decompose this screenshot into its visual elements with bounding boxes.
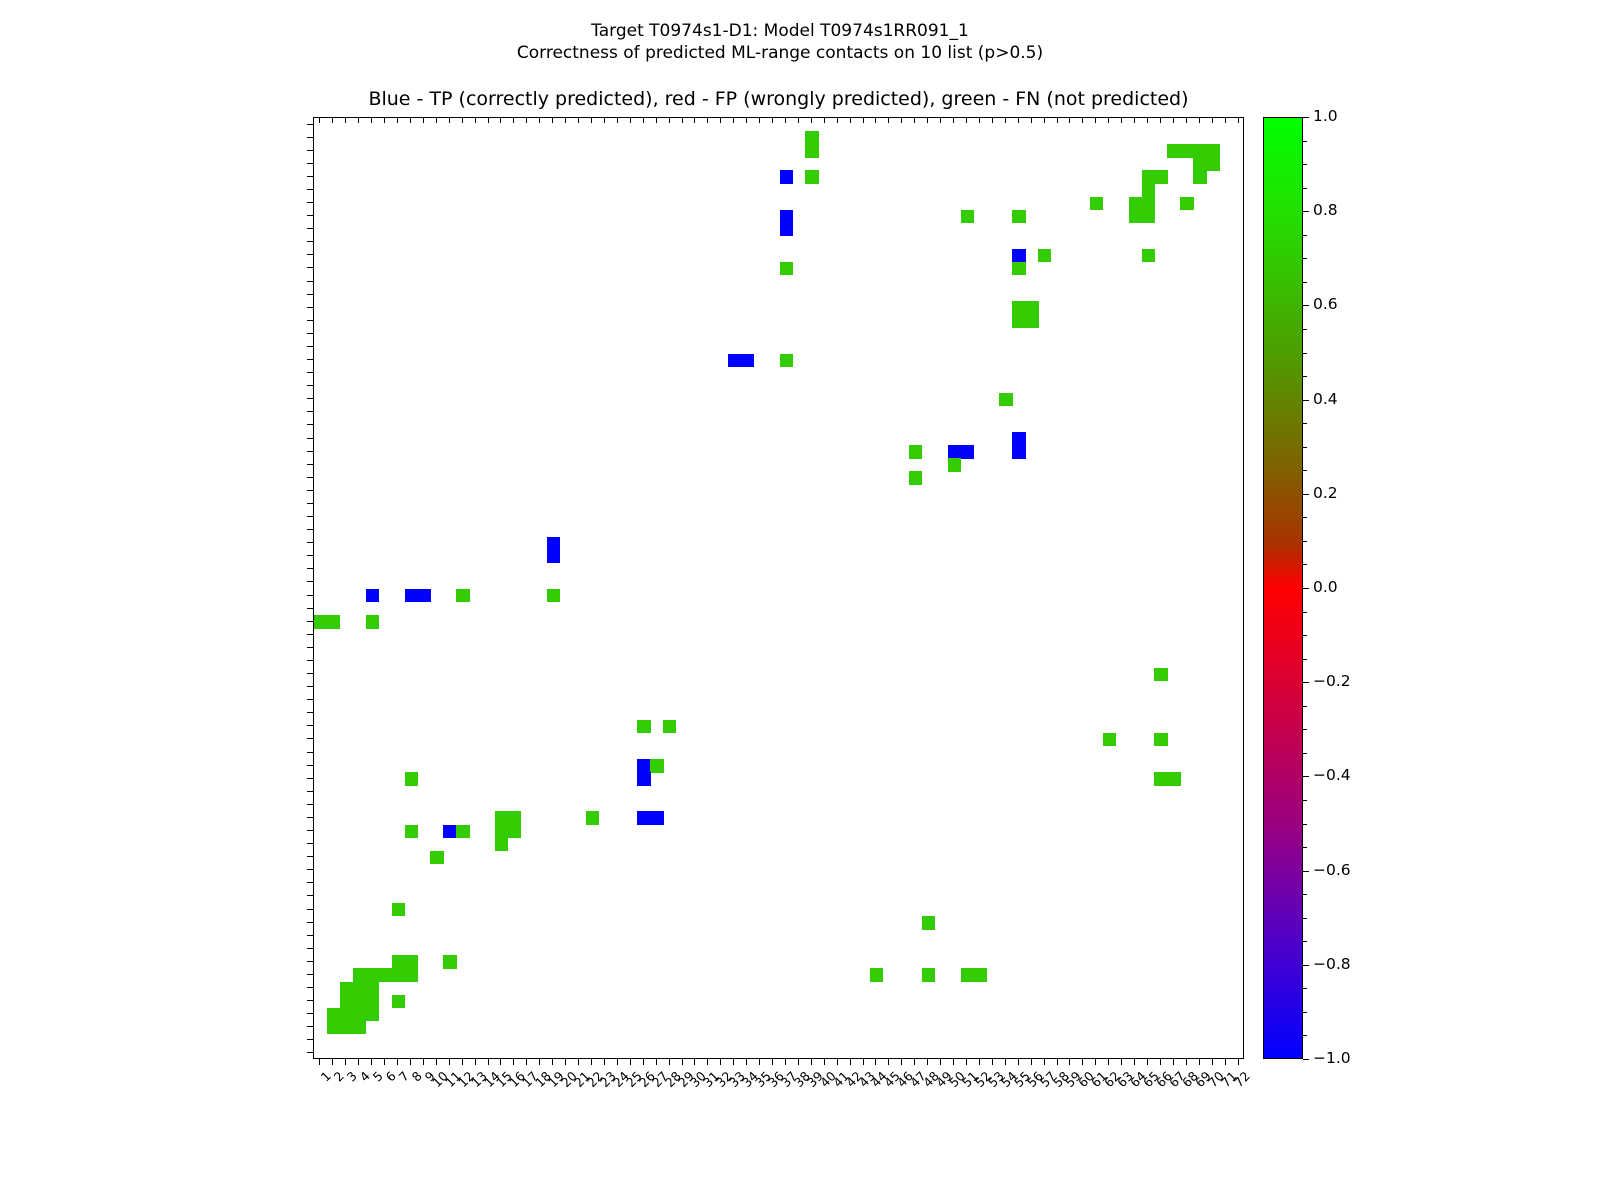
x-tick-mark-top <box>669 117 670 123</box>
colorbar-minor-tick <box>1303 612 1307 613</box>
heatmap-cell <box>909 471 922 484</box>
colorbar-minor-tick <box>1303 753 1307 754</box>
y-tick-mark <box>307 843 313 844</box>
heatmap-cell <box>366 589 379 602</box>
colorbar-minor-tick <box>1303 918 1307 919</box>
x-tick-mark <box>759 1059 760 1065</box>
x-tick-mark <box>940 1059 941 1065</box>
y-tick-mark <box>307 673 313 674</box>
x-tick-mark <box>888 1059 889 1065</box>
heatmap-cell <box>495 811 508 824</box>
y-tick-mark <box>307 869 313 870</box>
y-tick-mark <box>307 137 313 138</box>
heatmap-cell <box>1180 197 1193 210</box>
x-tick-mark-top <box>1005 117 1006 123</box>
x-tick-mark-top <box>436 117 437 123</box>
x-tick-mark-top <box>565 117 566 123</box>
x-tick-mark-top <box>1147 117 1148 123</box>
heatmap-cell <box>1167 144 1180 157</box>
x-tick-mark <box>552 1059 553 1065</box>
colorbar-tick-mark <box>1303 682 1309 683</box>
axes-title: Blue - TP (correctly predicted), red - F… <box>313 88 1244 110</box>
colorbar-minor-tick <box>1303 847 1307 848</box>
y-tick-mark <box>307 176 313 177</box>
x-tick-mark-top <box>1108 117 1109 123</box>
x-tick-mark-top <box>1031 117 1032 123</box>
colorbar-minor-tick <box>1303 423 1307 424</box>
heatmap-cell <box>637 772 650 785</box>
y-tick-mark <box>307 294 313 295</box>
heatmap-cell <box>1142 170 1155 183</box>
x-tick-mark <box>992 1059 993 1065</box>
x-tick-mark-top <box>694 117 695 123</box>
x-tick-mark-top <box>837 117 838 123</box>
y-tick-mark <box>307 411 313 412</box>
figure-suptitle-line1: Target T0974s1-D1: Model T0974s1RR091_1 <box>0 20 1560 42</box>
y-tick-mark <box>307 124 313 125</box>
x-tick-mark <box>488 1059 489 1065</box>
heatmap-cell <box>1154 668 1167 681</box>
x-tick-mark-top <box>539 117 540 123</box>
y-tick-mark <box>307 621 313 622</box>
heatmap-cell <box>1142 249 1155 262</box>
y-tick-mark <box>307 438 313 439</box>
heatmap-cell <box>405 955 418 968</box>
colorbar-minor-tick <box>1303 1035 1307 1036</box>
y-tick-mark <box>307 686 313 687</box>
y-tick-mark <box>307 804 313 805</box>
colorbar-tick-mark <box>1303 117 1309 118</box>
y-tick-mark <box>307 791 313 792</box>
x-tick-mark-top <box>1057 117 1058 123</box>
y-tick-mark <box>307 948 313 949</box>
y-tick-mark <box>307 228 313 229</box>
heatmap-cell <box>353 995 366 1008</box>
x-tick-mark <box>1069 1059 1070 1065</box>
x-tick-mark <box>539 1059 540 1065</box>
x-tick-mark-top <box>1225 117 1226 123</box>
colorbar-minor-tick <box>1303 941 1307 942</box>
x-tick-mark <box>927 1059 928 1065</box>
heatmap-cell <box>1206 157 1219 170</box>
heatmap-cell <box>366 982 379 995</box>
y-tick-mark <box>307 895 313 896</box>
x-tick-mark <box>720 1059 721 1065</box>
colorbar-tick-label: 1.0 <box>1313 108 1338 124</box>
colorbar-tick-label: 0.0 <box>1313 579 1338 595</box>
y-tick-mark <box>307 1026 313 1027</box>
x-tick-mark-top <box>914 117 915 123</box>
heatmap-cell <box>1012 249 1025 262</box>
x-tick-mark <box>1108 1059 1109 1065</box>
x-tick-mark <box>565 1059 566 1065</box>
y-tick-mark <box>307 765 313 766</box>
x-tick-mark-top <box>319 117 320 123</box>
x-tick-mark-top <box>578 117 579 123</box>
x-tick-mark-top <box>1095 117 1096 123</box>
heatmap-cell <box>637 720 650 733</box>
x-tick-mark <box>979 1059 980 1065</box>
x-tick-mark <box>449 1059 450 1065</box>
y-tick-mark <box>307 647 313 648</box>
x-tick-mark-top <box>371 117 372 123</box>
colorbar-minor-tick <box>1303 635 1307 636</box>
x-tick-mark-top <box>824 117 825 123</box>
y-tick-mark <box>307 922 313 923</box>
heatmap-cell <box>405 772 418 785</box>
x-tick-mark <box>733 1059 734 1065</box>
heatmap-cell <box>637 759 650 772</box>
heatmap-cell <box>961 445 974 458</box>
x-tick-mark <box>798 1059 799 1065</box>
heatmap-cell <box>1154 733 1167 746</box>
y-tick-mark <box>307 320 313 321</box>
heatmap-cell <box>1012 432 1025 445</box>
y-tick-mark <box>307 738 313 739</box>
heatmap-cell <box>547 589 560 602</box>
x-tick-mark-top <box>1160 117 1161 123</box>
colorbar-minor-tick <box>1303 258 1307 259</box>
x-tick-mark <box>1186 1059 1187 1065</box>
x-tick-mark-top <box>513 117 514 123</box>
heatmap-cell <box>340 1021 353 1034</box>
x-tick-mark-top <box>798 117 799 123</box>
y-tick-mark <box>307 555 313 556</box>
y-tick-mark <box>307 307 313 308</box>
x-tick-mark <box>1212 1059 1213 1065</box>
x-tick-mark-top <box>940 117 941 123</box>
heatmap-cell <box>1025 301 1038 314</box>
x-tick-mark-top <box>1069 117 1070 123</box>
heatmap-cell <box>1180 144 1193 157</box>
x-tick-mark <box>358 1059 359 1065</box>
heatmap-plot-area <box>313 117 1244 1059</box>
heatmap-cell <box>430 851 443 864</box>
x-tick-mark-top <box>1212 117 1213 123</box>
colorbar-minor-tick <box>1303 353 1307 354</box>
heatmap-cell <box>508 811 521 824</box>
x-tick-mark-top <box>358 117 359 123</box>
x-tick-mark <box>630 1059 631 1065</box>
heatmap-cell <box>340 982 353 995</box>
heatmap-cell <box>1090 197 1103 210</box>
x-tick-mark <box>669 1059 670 1065</box>
x-tick-mark-top <box>979 117 980 123</box>
x-tick-mark <box>1134 1059 1135 1065</box>
x-tick-mark <box>1031 1059 1032 1065</box>
y-tick-mark <box>307 346 313 347</box>
colorbar-tick-mark <box>1303 588 1309 589</box>
y-tick-mark <box>307 464 313 465</box>
y-tick-mark <box>307 359 313 360</box>
heatmap-cell <box>1154 170 1167 183</box>
y-tick-mark <box>307 281 313 282</box>
heatmap-cell <box>353 982 366 995</box>
x-tick-mark-top <box>888 117 889 123</box>
y-tick-mark <box>307 778 313 779</box>
y-tick-mark <box>307 660 313 661</box>
x-tick-mark <box>850 1059 851 1065</box>
colorbar-minor-tick <box>1303 447 1307 448</box>
x-tick-mark-top <box>707 117 708 123</box>
y-tick-mark <box>307 882 313 883</box>
x-tick-mark-top <box>462 117 463 123</box>
colorbar-minor-tick <box>1303 659 1307 660</box>
y-tick-mark <box>307 150 313 151</box>
heatmap-cell <box>1167 772 1180 785</box>
heatmap-cell <box>327 1008 340 1021</box>
y-tick-mark <box>307 974 313 975</box>
contact-map-figure: Target T0974s1-D1: Model T0974s1RR091_1 … <box>0 0 1600 1200</box>
y-tick-mark <box>307 1000 313 1001</box>
x-tick-mark <box>682 1059 683 1065</box>
heatmap-cell <box>392 995 405 1008</box>
heatmap-cell <box>353 968 366 981</box>
y-tick-mark <box>307 424 313 425</box>
x-tick-mark <box>1005 1059 1006 1065</box>
heatmap-cell <box>780 170 793 183</box>
y-tick-mark <box>307 725 313 726</box>
heatmap-cell <box>650 759 663 772</box>
x-tick-mark <box>694 1059 695 1065</box>
colorbar-tick-mark <box>1303 1059 1309 1060</box>
x-tick-mark <box>384 1059 385 1065</box>
x-tick-mark-top <box>759 117 760 123</box>
x-tick-mark <box>1173 1059 1174 1065</box>
colorbar-tick-label: 0.4 <box>1313 391 1338 407</box>
heatmap-cell <box>1012 314 1025 327</box>
heatmap-cell <box>443 825 456 838</box>
x-tick-mark-top <box>1044 117 1045 123</box>
colorbar-tick-mark <box>1303 305 1309 306</box>
x-tick-mark-top <box>643 117 644 123</box>
y-tick-mark <box>307 333 313 334</box>
heatmap-cell <box>405 589 418 602</box>
y-tick-mark <box>307 516 313 517</box>
x-tick-mark <box>1057 1059 1058 1065</box>
y-tick-mark <box>307 634 313 635</box>
colorbar-minor-tick <box>1303 729 1307 730</box>
heatmap-cell <box>586 811 599 824</box>
x-tick-mark-top <box>500 117 501 123</box>
x-tick-mark-top <box>423 117 424 123</box>
x-tick-mark-top <box>850 117 851 123</box>
heatmap-cell <box>340 1008 353 1021</box>
colorbar-tick-mark <box>1303 965 1309 966</box>
x-tick-mark-top <box>785 117 786 123</box>
heatmap-cell <box>1038 249 1051 262</box>
heatmap-cell <box>922 968 935 981</box>
x-tick-mark-top <box>966 117 967 123</box>
x-tick-mark <box>875 1059 876 1065</box>
x-tick-mark-top <box>746 117 747 123</box>
x-tick-mark <box>707 1059 708 1065</box>
x-tick-mark-top <box>901 117 902 123</box>
heatmap-cell <box>780 262 793 275</box>
heatmap-cell <box>728 354 741 367</box>
y-tick-mark <box>307 398 313 399</box>
colorbar-minor-tick <box>1303 329 1307 330</box>
x-tick-mark <box>1160 1059 1161 1065</box>
x-tick-mark-top <box>591 117 592 123</box>
y-tick-mark <box>307 935 313 936</box>
colorbar-tick-label: −0.2 <box>1313 673 1351 689</box>
colorbar-tick-label: −1.0 <box>1313 1050 1351 1066</box>
x-tick-mark <box>837 1059 838 1065</box>
y-tick-mark <box>307 241 313 242</box>
heatmap-cell <box>495 838 508 851</box>
heatmap-cell <box>366 968 379 981</box>
heatmap-cell <box>366 995 379 1008</box>
x-tick-mark <box>1225 1059 1226 1065</box>
x-tick-mark-top <box>526 117 527 123</box>
x-tick-mark <box>1147 1059 1148 1065</box>
heatmap-cell <box>327 615 340 628</box>
x-tick-mark-top <box>475 117 476 123</box>
x-tick-mark-top <box>682 117 683 123</box>
figure-suptitle-line2: Correctness of predicted ML-range contac… <box>0 42 1560 64</box>
heatmap-cell <box>961 210 974 223</box>
heatmap-cell <box>340 995 353 1008</box>
x-tick-mark <box>397 1059 398 1065</box>
heatmap-cell <box>366 1008 379 1021</box>
x-tick-mark <box>914 1059 915 1065</box>
heatmap-cell <box>495 825 508 838</box>
x-tick-mark-top <box>811 117 812 123</box>
heatmap-cell <box>405 968 418 981</box>
colorbar-tick-mark <box>1303 776 1309 777</box>
heatmap-cell <box>1025 314 1038 327</box>
x-tick-mark-top <box>733 117 734 123</box>
x-tick-mark <box>1199 1059 1200 1065</box>
x-tick-mark <box>643 1059 644 1065</box>
y-tick-mark <box>307 699 313 700</box>
y-tick-mark <box>307 372 313 373</box>
y-tick-mark <box>307 542 313 543</box>
heatmap-cell <box>909 445 922 458</box>
heatmap-cell <box>780 354 793 367</box>
x-tick-mark-top <box>384 117 385 123</box>
x-tick-mark-top <box>449 117 450 123</box>
x-tick-mark-top <box>1134 117 1135 123</box>
colorbar-minor-tick <box>1303 894 1307 895</box>
x-tick-mark-top <box>1082 117 1083 123</box>
heatmap-cell <box>663 720 676 733</box>
x-tick-mark <box>436 1059 437 1065</box>
x-tick-mark <box>500 1059 501 1065</box>
heatmap-cell <box>948 458 961 471</box>
x-tick-mark <box>513 1059 514 1065</box>
heatmap-cell <box>392 903 405 916</box>
colorbar-minor-tick <box>1303 564 1307 565</box>
x-tick-mark <box>604 1059 605 1065</box>
x-tick-mark <box>953 1059 954 1065</box>
heatmap-cell <box>1129 210 1142 223</box>
y-tick-mark <box>307 189 313 190</box>
x-tick-mark-top <box>332 117 333 123</box>
x-tick-mark <box>824 1059 825 1065</box>
heatmap-cell <box>1012 301 1025 314</box>
heatmap-cell <box>973 968 986 981</box>
x-tick-mark <box>772 1059 773 1065</box>
heatmap-cell <box>1193 170 1206 183</box>
colorbar-minor-tick <box>1303 141 1307 142</box>
colorbar-tick-label: −0.6 <box>1313 862 1351 878</box>
x-tick-mark <box>1018 1059 1019 1065</box>
y-tick-mark <box>307 752 313 753</box>
heatmap-cell <box>353 1008 366 1021</box>
heatmap-cell <box>1142 183 1155 196</box>
y-tick-mark <box>307 490 313 491</box>
heatmap-cell <box>741 354 754 367</box>
y-tick-mark <box>307 987 313 988</box>
heatmap-cell <box>922 916 935 929</box>
heatmap-cell <box>405 825 418 838</box>
colorbar-minor-tick <box>1303 188 1307 189</box>
x-tick-mark-top <box>656 117 657 123</box>
x-tick-mark-top <box>410 117 411 123</box>
x-tick-mark <box>332 1059 333 1065</box>
y-tick-mark <box>307 1052 313 1053</box>
x-tick-mark <box>901 1059 902 1065</box>
x-tick-mark <box>811 1059 812 1065</box>
x-tick-mark-top <box>953 117 954 123</box>
y-tick-mark <box>307 1039 313 1040</box>
heatmap-cell <box>1142 210 1155 223</box>
x-tick-mark-top <box>772 117 773 123</box>
colorbar-tick-mark <box>1303 211 1309 212</box>
x-tick-mark-top <box>863 117 864 123</box>
heatmap-cell <box>650 811 663 824</box>
colorbar-minor-tick <box>1303 282 1307 283</box>
y-tick-mark <box>307 961 313 962</box>
colorbar-tick-label: −0.4 <box>1313 767 1351 783</box>
x-tick-mark <box>1121 1059 1122 1065</box>
heatmap-cell <box>1012 445 1025 458</box>
x-tick-mark-top <box>992 117 993 123</box>
x-tick-mark-top <box>1121 117 1122 123</box>
colorbar-minor-tick <box>1303 235 1307 236</box>
x-tick-mark <box>591 1059 592 1065</box>
x-tick-mark-top <box>397 117 398 123</box>
y-tick-mark <box>307 267 313 268</box>
x-tick-mark-top <box>1199 117 1200 123</box>
heatmap-cell <box>443 955 456 968</box>
heatmap-cell <box>805 144 818 157</box>
heatmap-cell <box>392 968 405 981</box>
colorbar-minor-tick <box>1303 164 1307 165</box>
y-tick-mark <box>307 856 313 857</box>
x-tick-mark-top <box>720 117 721 123</box>
heatmap-cell <box>1206 144 1219 157</box>
y-tick-mark <box>307 568 313 569</box>
x-tick-mark <box>1238 1059 1239 1065</box>
heatmap-cell <box>870 968 883 981</box>
y-tick-mark <box>307 581 313 582</box>
x-tick-mark-top <box>604 117 605 123</box>
heatmap-cell <box>456 825 469 838</box>
heatmap-cell <box>999 393 1012 406</box>
heatmap-cell <box>508 825 521 838</box>
x-tick-mark-top <box>1173 117 1174 123</box>
heatmap-cells-layer <box>314 118 1243 1058</box>
colorbar-minor-tick <box>1303 824 1307 825</box>
x-tick-mark <box>371 1059 372 1065</box>
x-tick-mark <box>526 1059 527 1065</box>
x-tick-mark-top <box>1018 117 1019 123</box>
x-tick-mark <box>617 1059 618 1065</box>
x-tick-mark-top <box>617 117 618 123</box>
